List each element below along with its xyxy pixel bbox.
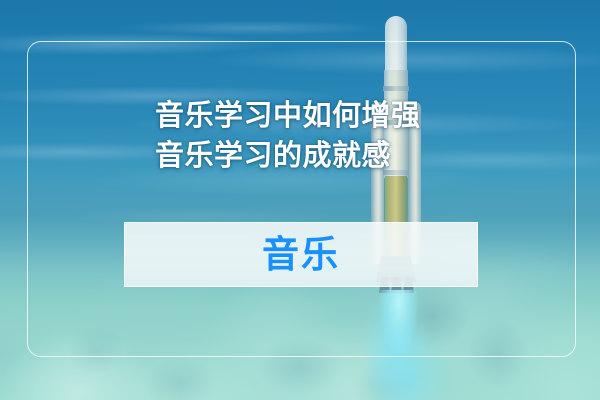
category-tag-box[interactable]: 音乐	[124, 222, 478, 287]
page-title-line-2: 音乐学习的成就感	[155, 136, 485, 176]
category-tag-label: 音乐	[262, 236, 340, 273]
background-color-grade	[0, 0, 600, 400]
page-title-line-1: 音乐学习中如何增强	[155, 96, 485, 136]
banner-image: 音乐学习中如何增强 音乐学习的成就感 音乐	[0, 0, 600, 400]
page-title: 音乐学习中如何增强 音乐学习的成就感	[155, 96, 485, 176]
